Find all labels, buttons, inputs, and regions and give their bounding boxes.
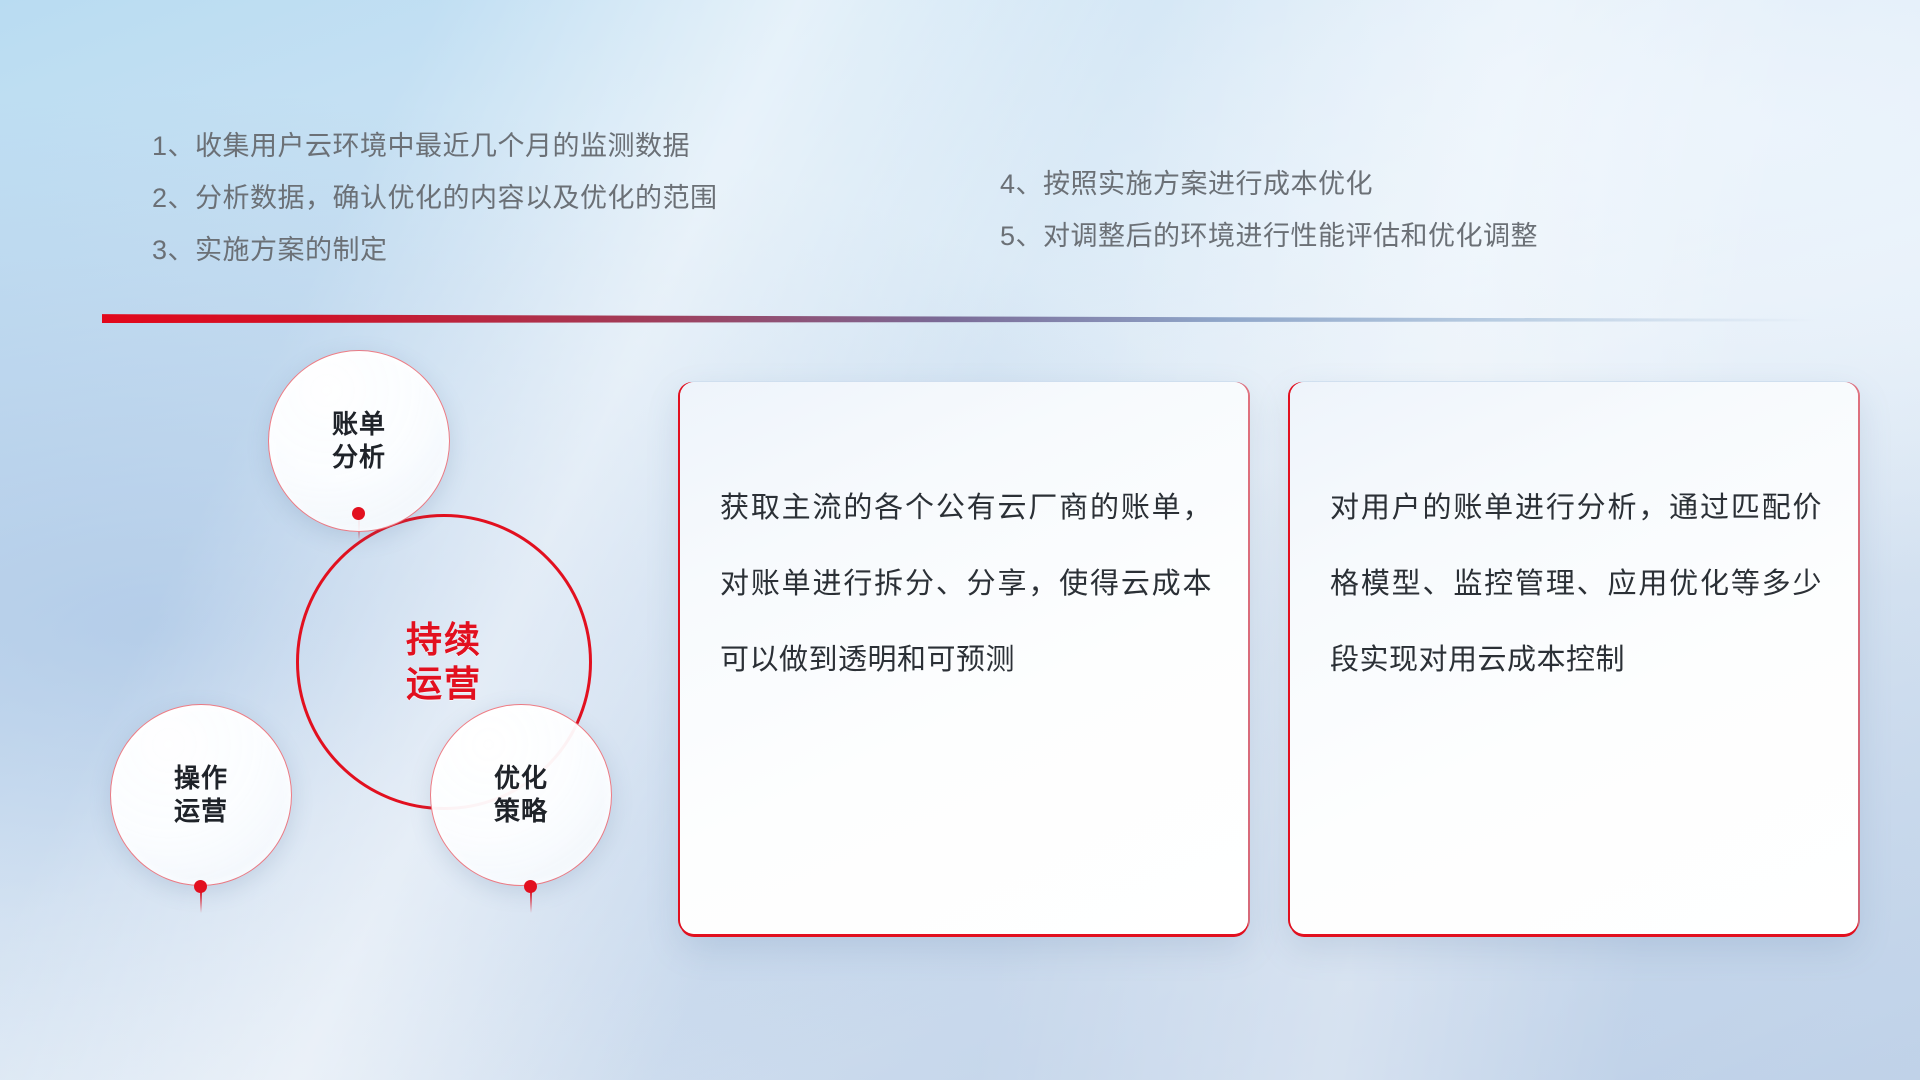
bubble-right-line2: 策略 bbox=[494, 796, 548, 826]
card-1-body: 获取主流的各个公有云厂商的账单，对账单进行拆分、分享，使得云成本可以做到透明和可… bbox=[720, 470, 1212, 698]
section-divider bbox=[102, 312, 1852, 324]
diagram-bubble-operations[interactable]: 操作 运营 bbox=[110, 704, 292, 886]
connector-tail-left bbox=[200, 891, 202, 913]
bubble-left-line2: 运营 bbox=[174, 796, 228, 826]
center-label-line2: 运营 bbox=[406, 662, 482, 706]
slide-canvas: 1、收集用户云环境中最近几个月的监测数据 2、分析数据，确认优化的内容以及优化的… bbox=[0, 0, 1920, 1080]
step-item-5: 5、对调整后的环境进行性能评估和优化调整 bbox=[1000, 210, 1538, 262]
divider-bar bbox=[102, 312, 1852, 324]
feature-card-cloud-cost-optimization[interactable]: 对用户的账单进行分析，通过匹配价格模型、监控管理、应用优化等多少段实现对用云成本… bbox=[1290, 382, 1858, 934]
bubble-right-line1: 优化 bbox=[494, 763, 548, 793]
connector-tail-right bbox=[530, 891, 532, 913]
bubble-top-line1: 账单 bbox=[332, 409, 386, 439]
step-item-1: 1、收集用户云环境中最近几个月的监测数据 bbox=[152, 120, 718, 172]
feature-card-multicloud-billing[interactable]: 获取主流的各个公有云厂商的账单，对账单进行拆分、分享，使得云成本可以做到透明和可… bbox=[680, 382, 1248, 934]
center-label-line1: 持续 bbox=[406, 618, 482, 662]
step-item-2: 2、分析数据，确认优化的内容以及优化的范围 bbox=[152, 172, 718, 224]
step-item-3: 3、实施方案的制定 bbox=[152, 224, 718, 276]
step-item-4: 4、按照实施方案进行成本优化 bbox=[1000, 158, 1538, 210]
card-2-body: 对用户的账单进行分析，通过匹配价格模型、监控管理、应用优化等多少段实现对用云成本… bbox=[1330, 470, 1822, 698]
cycle-diagram: 持续 运营 账单 分析 操作 运营 优化 策略 bbox=[100, 346, 660, 946]
diagram-bubble-billing-analysis[interactable]: 账单 分析 bbox=[268, 350, 450, 532]
connector-dot-top bbox=[352, 507, 365, 520]
steps-list-left: 1、收集用户云环境中最近几个月的监测数据 2、分析数据，确认优化的内容以及优化的… bbox=[152, 120, 718, 276]
steps-list-right: 4、按照实施方案进行成本优化 5、对调整后的环境进行性能评估和优化调整 bbox=[1000, 158, 1538, 262]
bubble-top-line2: 分析 bbox=[332, 442, 386, 472]
diagram-bubble-optimization-strategy[interactable]: 优化 策略 bbox=[430, 704, 612, 886]
connector-dot-left bbox=[194, 880, 207, 893]
connector-dot-right bbox=[524, 880, 537, 893]
bubble-left-line1: 操作 bbox=[174, 763, 228, 793]
